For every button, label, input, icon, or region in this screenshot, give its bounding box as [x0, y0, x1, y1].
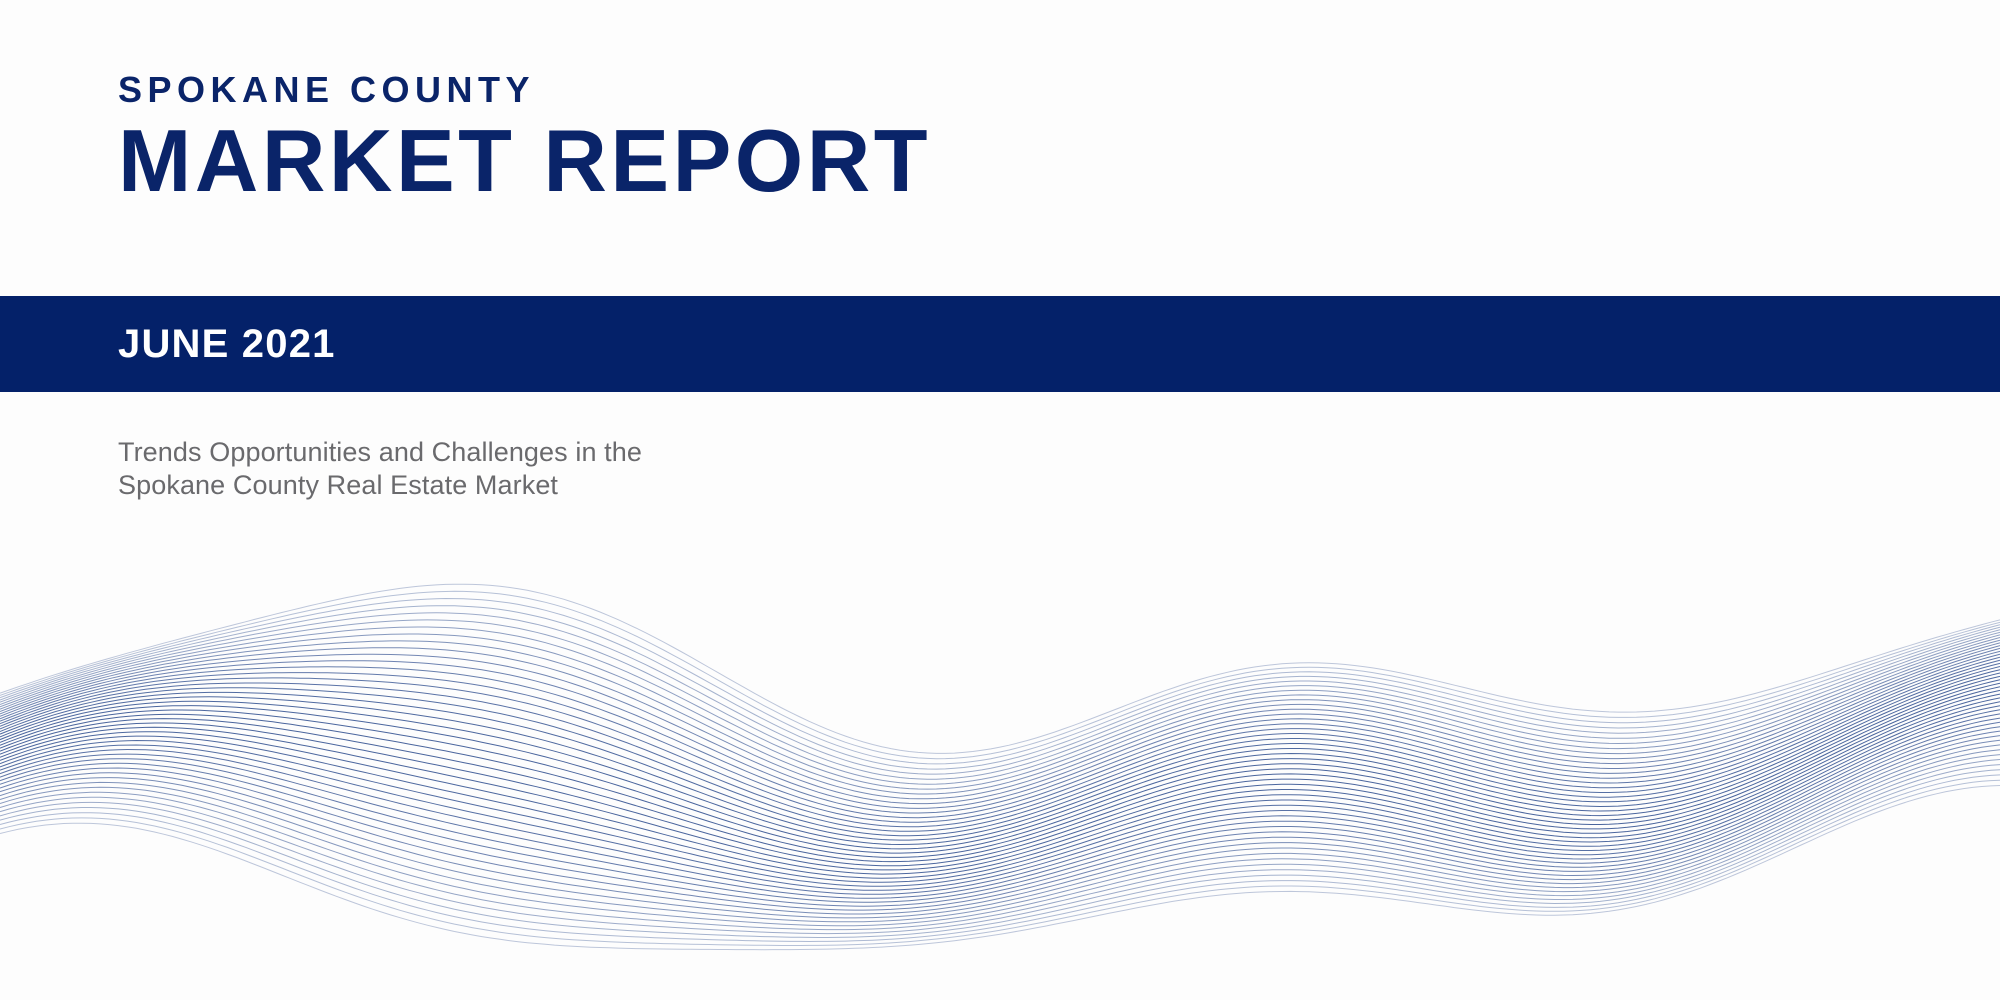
- wave-line: [0, 780, 2000, 945]
- wave-lines-svg: [0, 430, 2000, 1000]
- wave-line: [0, 687, 2000, 862]
- wave-line: [0, 660, 2000, 827]
- wave-line: [0, 736, 2000, 911]
- wave-line: [0, 765, 2000, 934]
- wave-line: [0, 731, 2000, 906]
- wave-line: [0, 606, 2000, 769]
- wave-line: [0, 786, 2000, 950]
- wave-line: [0, 755, 2000, 926]
- wave-line: [0, 680, 2000, 853]
- wave-line: [0, 714, 2000, 890]
- wave-line: [0, 683, 2000, 857]
- wave-line: [0, 722, 2000, 898]
- subtitle-line-1: Trends Opportunities and Challenges in t…: [118, 436, 898, 469]
- wave-line: [0, 663, 2000, 831]
- wave-line: [0, 667, 2000, 836]
- wave-line: [0, 657, 2000, 822]
- wave-line: [0, 670, 2000, 840]
- wave-line: [0, 643, 2000, 799]
- page-title: MARKET REPORT: [118, 120, 1318, 203]
- wave-line: [0, 775, 2000, 942]
- wave-line: [0, 634, 2000, 789]
- wave-line: [0, 718, 2000, 894]
- subtitle-block: Trends Opportunities and Challenges in t…: [118, 436, 898, 502]
- eyebrow-title: SPOKANE COUNTY: [118, 72, 1318, 108]
- wave-line-group: [0, 584, 2000, 950]
- wave-line: [0, 627, 2000, 784]
- wave-line: [0, 613, 2000, 774]
- wave-line: [0, 690, 2000, 865]
- wave-line: [0, 770, 2000, 938]
- wave-line: [0, 702, 2000, 878]
- wave-line: [0, 676, 2000, 849]
- date-banner-label: JUNE 2021: [118, 324, 336, 364]
- wave-line: [0, 745, 2000, 918]
- wave-line: [0, 640, 2000, 794]
- wave-line: [0, 710, 2000, 887]
- page-title-block: SPOKANE COUNTY MARKET REPORT: [118, 72, 1318, 203]
- wave-line: [0, 698, 2000, 874]
- market-report-cover: SPOKANE COUNTY MARKET REPORT JUNE 2021 T…: [0, 0, 2000, 1000]
- wave-line: [0, 654, 2000, 818]
- wave-line: [0, 651, 2000, 813]
- wave-line: [0, 694, 2000, 870]
- abstract-wave-lines-graphic: [0, 430, 2000, 1000]
- wave-line: [0, 620, 2000, 779]
- wave-line: [0, 673, 2000, 845]
- wave-line: [0, 706, 2000, 883]
- wave-line: [0, 750, 2000, 922]
- wave-line: [0, 646, 2000, 804]
- wave-line: [0, 740, 2000, 914]
- wave-line: [0, 584, 2000, 753]
- wave-line: [0, 599, 2000, 764]
- subtitle-line-2: Spokane County Real Estate Market: [118, 469, 898, 502]
- date-banner: JUNE 2021: [0, 296, 2000, 392]
- wave-line: [0, 760, 2000, 930]
- wave-line: [0, 648, 2000, 808]
- wave-line: [0, 727, 2000, 903]
- wave-line: [0, 591, 2000, 758]
